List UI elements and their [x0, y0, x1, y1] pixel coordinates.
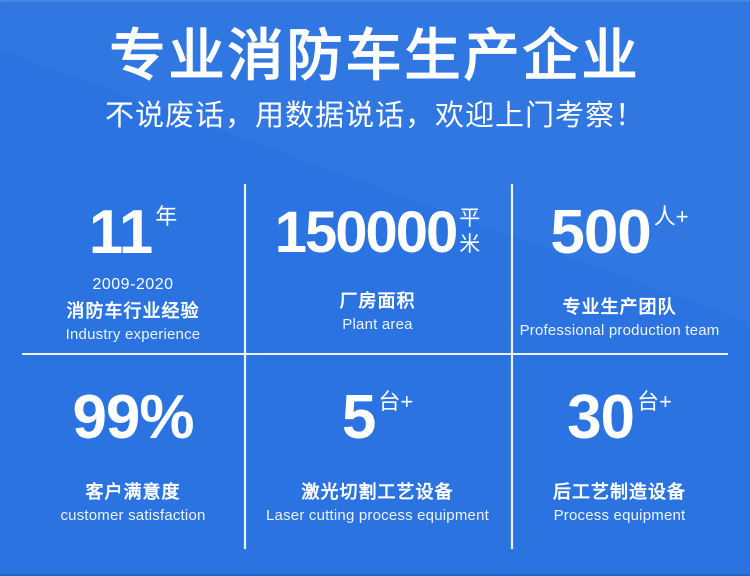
stat-number: 500: [550, 202, 650, 264]
stat-unit: 平 米: [456, 202, 480, 258]
stat-value-row: 500 人+: [550, 202, 688, 264]
page-title: 专业消防车生产企业: [0, 24, 750, 88]
stat-label-en: customer satisfaction: [60, 506, 205, 525]
stat-label-cn: 激光切割工艺设备: [302, 481, 454, 503]
stat-number: 5: [342, 387, 375, 449]
stat-label-en: Plant area: [342, 315, 412, 334]
poster-header: 专业消防车生产企业 不说废话，用数据说话，欢迎上门考察！: [0, 24, 750, 134]
stat-unit: 台+: [375, 387, 413, 414]
stat-cell-process-equipment: 30 台+ 后工艺制造设备 Process equipment: [511, 367, 728, 550]
stat-label-cn: 专业生产团队: [563, 296, 677, 318]
stat-cell-production-team: 500 人+ 专业生产团队 Professional production te…: [511, 184, 728, 367]
stat-label-cn: 消防车行业经验: [67, 300, 200, 322]
stat-label-en: Professional production team: [520, 321, 720, 340]
stat-label-en: Industry experience: [66, 325, 201, 344]
stat-unit: 人+: [651, 202, 689, 229]
stat-unit: 台+: [634, 387, 672, 414]
stat-value-row: 11 年: [89, 202, 178, 264]
stat-value-row: 5 台+: [342, 387, 413, 449]
stats-grid: 11 年 2009-2020 消防车行业经验 Industry experien…: [22, 184, 728, 550]
stat-number: 150000: [275, 202, 457, 264]
stat-value-row: 150000 平 米: [275, 202, 481, 264]
stat-number: 30: [567, 387, 634, 449]
stat-cell-plant-area: 150000 平 米 厂房面积 Plant area: [244, 184, 511, 367]
stat-value-row: 99%: [72, 387, 193, 449]
page-subtitle: 不说废话，用数据说话，欢迎上门考察！: [0, 98, 750, 134]
stat-label-cn: 客户满意度: [86, 481, 181, 503]
stat-label-cn: 后工艺制造设备: [553, 481, 686, 503]
stat-number: 99%: [72, 387, 193, 449]
stat-number: 11: [89, 202, 153, 264]
stat-unit-top: 平: [459, 206, 480, 232]
company-stats-poster: 专业消防车生产企业 不说废话，用数据说话，欢迎上门考察！ 11 年 2009-2…: [0, 0, 750, 576]
stat-value-row: 30 台+: [567, 387, 672, 449]
stat-label-en: Laser cutting process equipment: [266, 506, 489, 525]
stat-cell-customer-satisfaction: 99% 客户满意度 customer satisfaction: [22, 367, 244, 550]
stat-unit-bottom: 米: [459, 232, 480, 258]
stat-cell-laser-cutting-equipment: 5 台+ 激光切割工艺设备 Laser cutting process equi…: [244, 367, 511, 550]
stat-unit: 年: [152, 202, 177, 229]
stat-label-cn: 厂房面积: [340, 290, 416, 312]
stat-cell-industry-experience: 11 年 2009-2020 消防车行业经验 Industry experien…: [22, 184, 244, 367]
stat-year-range: 2009-2020: [92, 276, 173, 294]
stat-label-en: Process equipment: [554, 506, 686, 525]
top-edge-highlight: [0, 0, 750, 3]
